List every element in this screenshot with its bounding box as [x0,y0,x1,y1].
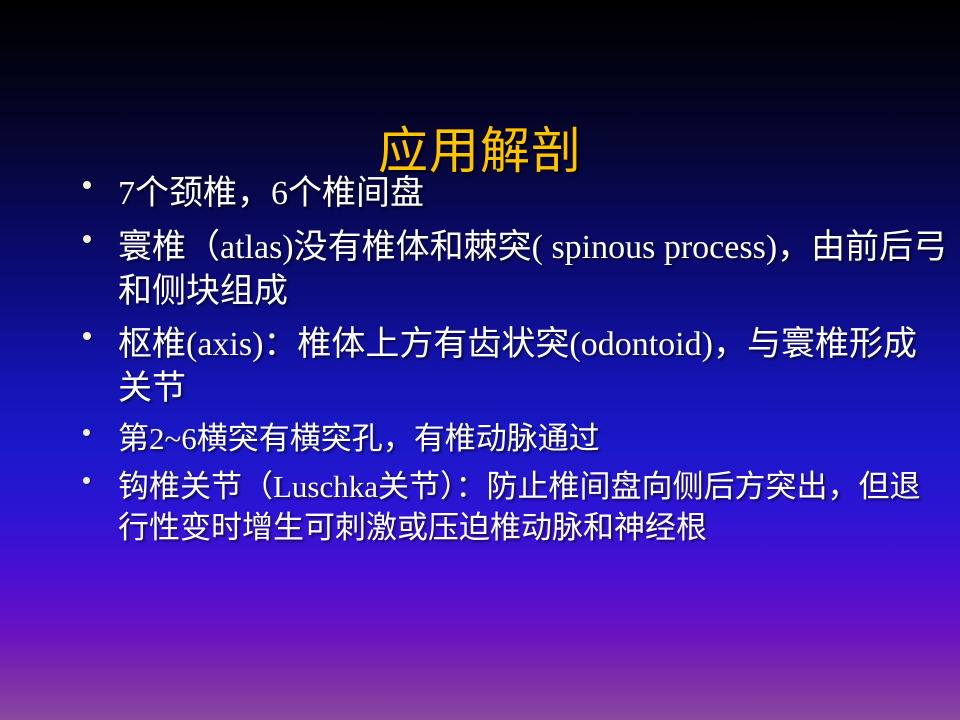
list-item[interactable]: 枢椎(axis)：椎体上方有齿状突(odontoid)，与寰椎形成关节 [74,323,950,411]
bullet-point-icon [83,235,91,243]
list-item[interactable]: 钩椎关节（Luschka关节）：防止椎间盘向侧后方突出，但退行性变时增生可刺激或… [74,467,950,548]
slide-canvas: 应用解剖 7个颈椎，6个椎间盘 寰椎（atlas)没有椎体和棘突( spinou… [0,0,960,720]
bullet-point-icon [83,477,90,484]
list-item-text: 寰椎（atlas)没有椎体和棘突( spinous process)，由前后弓和… [118,226,950,314]
bullet-point-icon [83,332,91,340]
list-item[interactable]: 寰椎（atlas)没有椎体和棘突( spinous process)，由前后弓和… [74,226,950,314]
list-item[interactable]: 7个颈椎，6个椎间盘 [74,172,950,216]
bullet-point-icon [83,181,91,189]
page-title: 应用解剖 [0,126,960,176]
bullet-point-icon [83,429,90,436]
bullet-list: 7个颈椎，6个椎间盘 寰椎（atlas)没有椎体和棘突( spinous pro… [74,172,950,548]
list-item-text: 第2~6横突有横突孔，有椎动脉通过 [118,419,950,459]
list-item-text: 钩椎关节（Luschka关节）：防止椎间盘向侧后方突出，但退行性变时增生可刺激或… [118,467,950,548]
list-item-text: 7个颈椎，6个椎间盘 [118,172,950,216]
list-item[interactable]: 第2~6横突有横突孔，有椎动脉通过 [74,419,950,459]
list-item-text: 枢椎(axis)：椎体上方有齿状突(odontoid)，与寰椎形成关节 [118,323,950,411]
